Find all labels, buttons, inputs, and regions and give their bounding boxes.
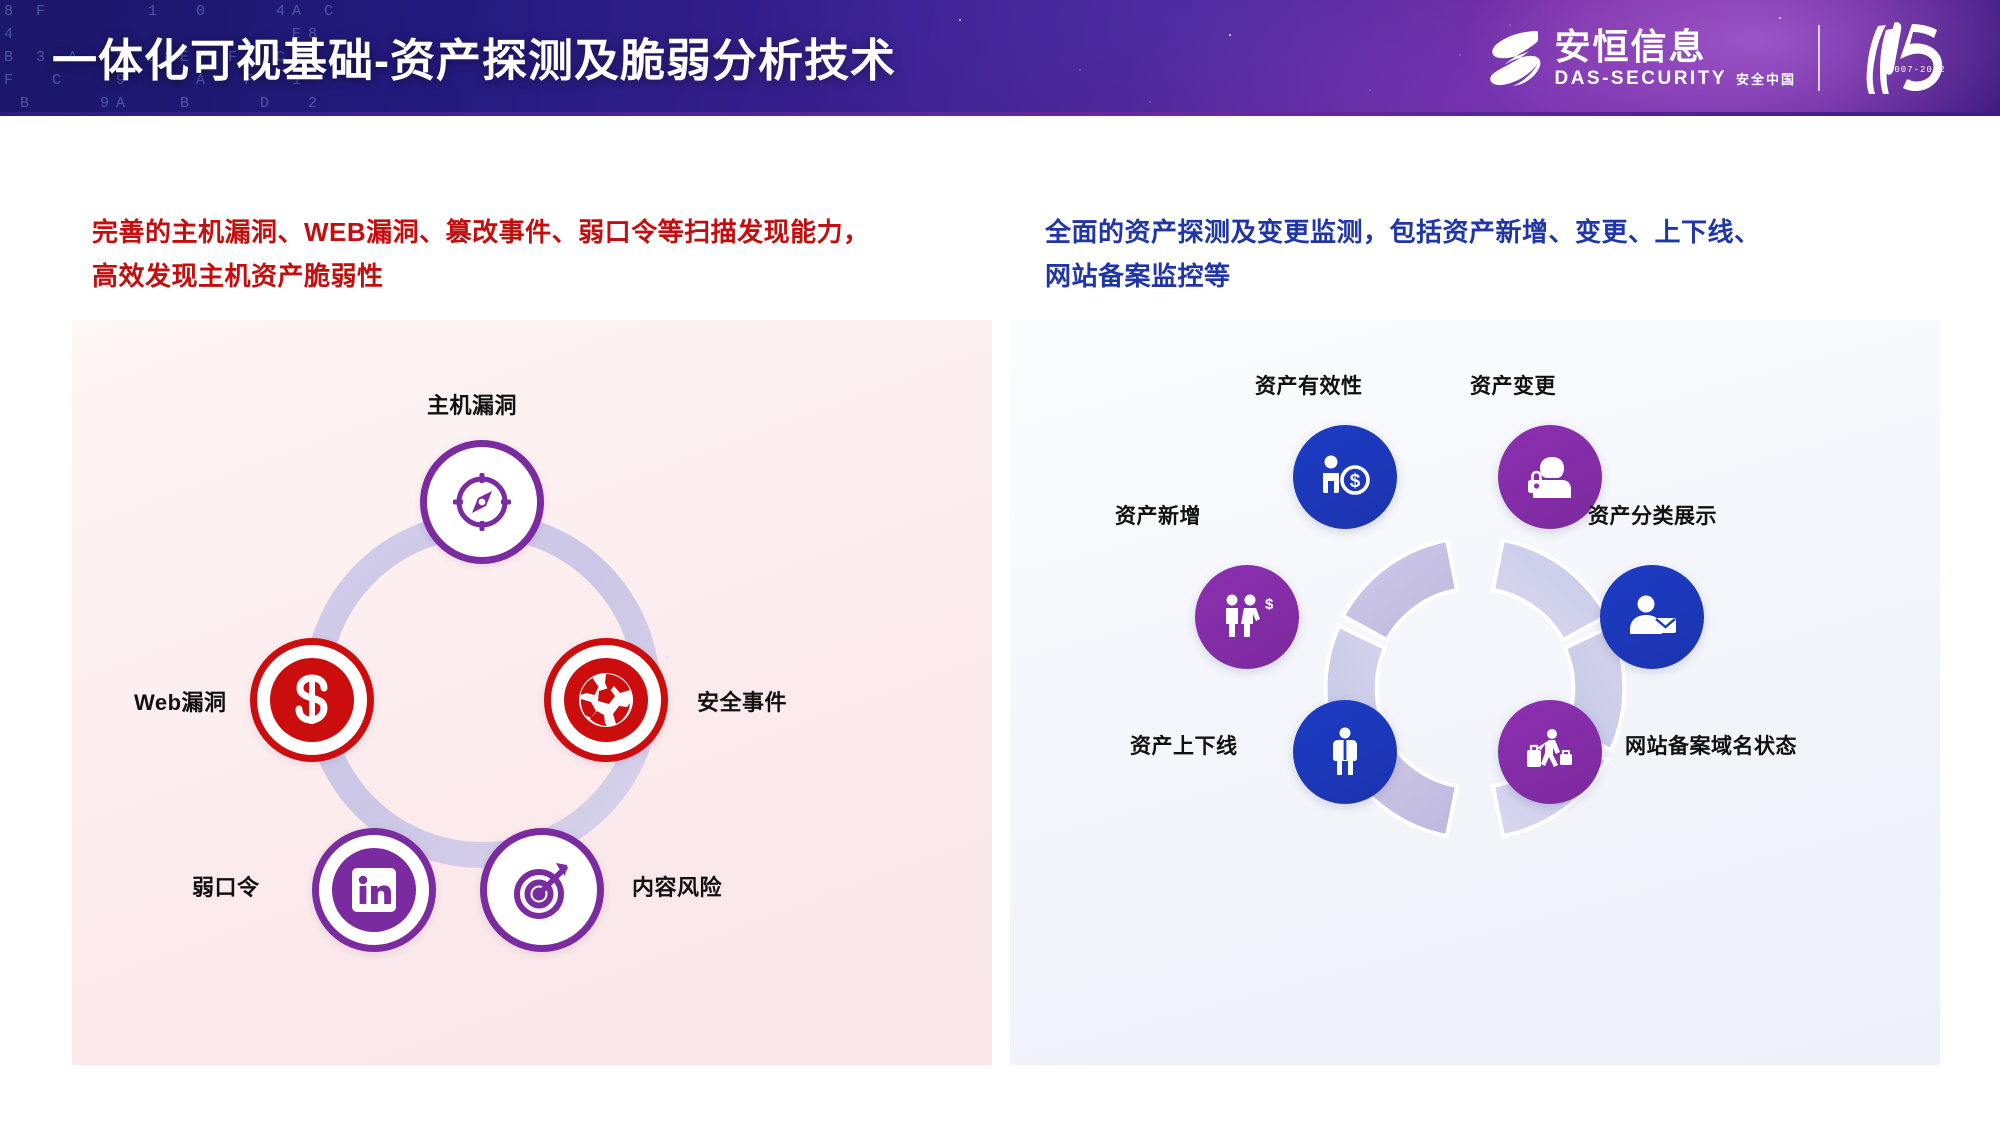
node-asset-validity[interactable]: $ bbox=[1293, 425, 1397, 529]
node-weak-password[interactable] bbox=[312, 828, 436, 952]
person-coin-icon: $ bbox=[1319, 454, 1371, 500]
right-heading-line-1: 全面的资产探测及变更监测，包括资产新增、变更、上下线、 bbox=[1045, 210, 1761, 254]
node-label-asset-validity: 资产有效性 bbox=[1255, 370, 1363, 400]
right-heading-line-2: 网站备案监控等 bbox=[1045, 254, 1761, 298]
slide-header: 8 F 1 0 4A C 4 E8 B 3 A 1 B8E F C6 F C 9… bbox=[0, 0, 2000, 116]
node-asset-classification[interactable] bbox=[1600, 565, 1704, 669]
das-security-mark-icon bbox=[1488, 27, 1542, 89]
left-heading: 完善的主机漏洞、WEB漏洞、篡改事件、弱口令等扫描发现能力， 高效发现主机资产脆… bbox=[92, 210, 870, 298]
vulnerability-ring-diagram: 主机漏洞 Web漏洞 bbox=[72, 320, 992, 1065]
node-label-website-record-domain-status: 网站备案域名状态 bbox=[1625, 730, 1797, 760]
node-icon-backdrop bbox=[270, 658, 354, 742]
target-icon bbox=[509, 857, 575, 923]
brand-en-name: DAS-SECURITY bbox=[1554, 69, 1727, 89]
globe-icon bbox=[577, 671, 635, 729]
person-mail-icon bbox=[1627, 594, 1677, 640]
node-asset-online-offline[interactable] bbox=[1293, 700, 1397, 804]
node-label-asset-change: 资产变更 bbox=[1470, 370, 1556, 400]
left-heading-line-2: 高效发现主机资产脆弱性 bbox=[92, 254, 870, 298]
svg-text:$: $ bbox=[1265, 596, 1273, 613]
node-asset-addition[interactable]: $ bbox=[1195, 565, 1299, 669]
right-heading: 全面的资产探测及变更监测，包括资产新增、变更、上下线、 网站备案监控等 bbox=[1045, 210, 1761, 298]
linkedin-icon bbox=[350, 866, 398, 914]
left-column: 主机漏洞 Web漏洞 bbox=[72, 320, 992, 1065]
person-growth-icon: $ bbox=[1221, 593, 1273, 641]
node-icon-backdrop bbox=[564, 658, 648, 742]
brand-sub-row: DAS-SECURITY 安全中国 bbox=[1554, 69, 1796, 89]
asset-monitoring-hex-diagram: $ 资产有效性 资产变更 bbox=[1010, 320, 1940, 1065]
person-lock-icon bbox=[1526, 454, 1574, 500]
node-website-record-domain-status[interactable] bbox=[1498, 700, 1602, 804]
brand-cn-name: 安恒信息 bbox=[1554, 27, 1796, 67]
anniversary-15-icon bbox=[1842, 20, 1962, 96]
anniversary-years: 2007-2022 bbox=[1888, 65, 1946, 75]
person-icon bbox=[1328, 727, 1362, 777]
brand-tagline: 安全中国 bbox=[1736, 71, 1796, 89]
hex-ring-graphic bbox=[1010, 320, 1940, 1065]
node-label-host-vulnerability: 主机漏洞 bbox=[427, 388, 517, 420]
slide-canvas: 8 F 1 0 4A C 4 E8 B 3 A 1 B8E F C6 F C 9… bbox=[0, 0, 2000, 1125]
node-label-web-vulnerability: Web漏洞 bbox=[134, 685, 227, 717]
node-label-asset-addition: 资产新增 bbox=[1115, 500, 1201, 530]
svg-text:$: $ bbox=[1350, 471, 1361, 492]
anniversary-badge: 2007-2022 bbox=[1842, 20, 1962, 96]
node-host-vulnerability[interactable] bbox=[420, 440, 544, 564]
brand-divider bbox=[1818, 25, 1820, 91]
left-heading-line-1: 完善的主机漏洞、WEB漏洞、篡改事件、弱口令等扫描发现能力， bbox=[92, 210, 870, 254]
brand-primary: 安恒信息 DAS-SECURITY 安全中国 bbox=[1488, 27, 1796, 89]
node-label-content-risk: 内容风险 bbox=[632, 870, 722, 902]
node-asset-change[interactable] bbox=[1498, 425, 1602, 529]
node-label-asset-online-offline: 资产上下线 bbox=[1130, 730, 1238, 760]
page-title: 一体化可视基础-资产探测及脆弱分析技术 bbox=[52, 24, 896, 89]
node-web-vulnerability[interactable] bbox=[250, 638, 374, 762]
header-bottom-rule bbox=[0, 112, 2000, 116]
dollar-icon bbox=[290, 674, 334, 726]
node-label-asset-classification: 资产分类展示 bbox=[1588, 500, 1717, 530]
traveler-icon bbox=[1525, 728, 1575, 776]
brand-logo: 安恒信息 DAS-SECURITY 安全中国 bbox=[1488, 16, 1962, 100]
brand-wordmark: 安恒信息 DAS-SECURITY 安全中国 bbox=[1554, 27, 1796, 89]
right-column: $ 资产有效性 资产变更 bbox=[1010, 320, 1940, 1065]
node-label-weak-password: 弱口令 bbox=[192, 870, 260, 902]
node-security-event[interactable] bbox=[544, 638, 668, 762]
node-label-security-event: 安全事件 bbox=[697, 685, 787, 717]
node-icon-backdrop bbox=[332, 848, 416, 932]
node-content-risk[interactable] bbox=[480, 828, 604, 952]
compass-icon bbox=[451, 471, 513, 533]
